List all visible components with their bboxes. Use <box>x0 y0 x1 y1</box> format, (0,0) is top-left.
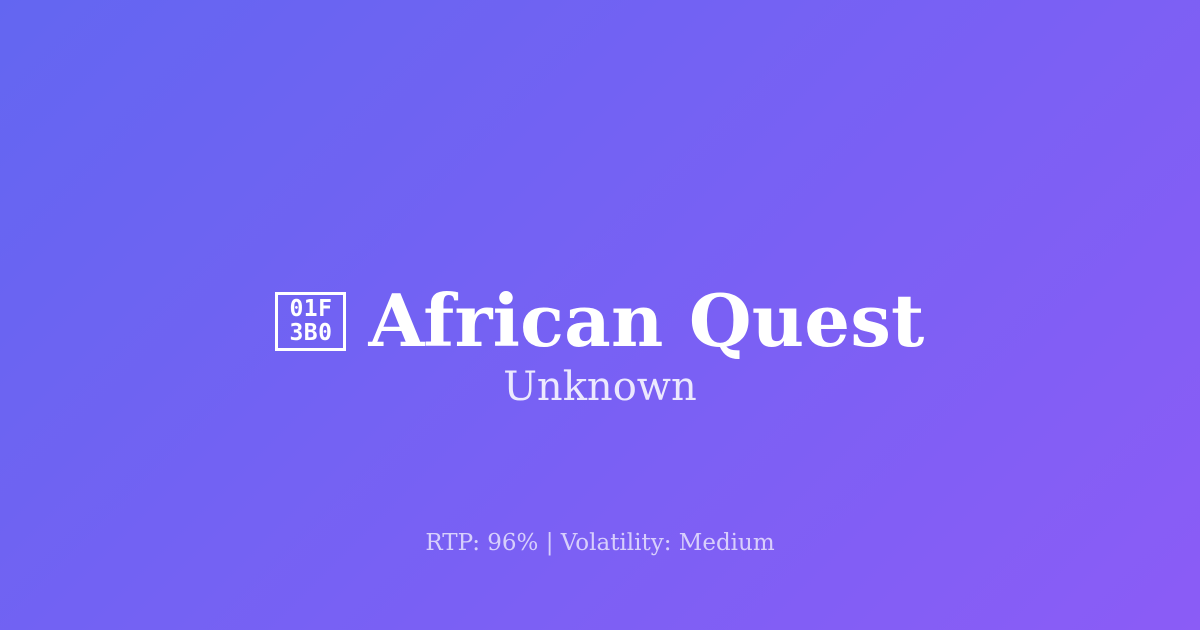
game-stats: RTP: 96% | Volatility: Medium <box>0 528 1200 558</box>
page-title: African Quest <box>368 280 924 362</box>
slot-machine-icon: 01F 3B0 <box>275 292 346 351</box>
game-preview-card: 01F 3B0 African Quest Unknown RTP: 96% |… <box>0 0 1200 630</box>
slot-machine-icon-codepoint-bottom: 3B0 <box>289 321 332 345</box>
slot-machine-icon-codepoint-top: 01F <box>289 297 332 321</box>
game-provider: Unknown <box>0 362 1200 412</box>
